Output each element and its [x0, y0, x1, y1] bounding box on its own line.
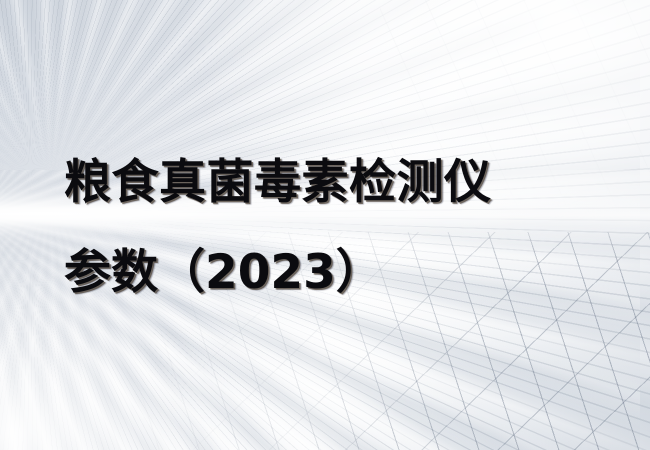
title-banner: 粮食真菌毒素检测仪 参数（2023）	[0, 0, 650, 450]
title-line-secondary: 参数（2023）	[64, 228, 624, 318]
title-line-primary: 粮食真菌毒素检测仪	[64, 138, 624, 228]
page-title: 粮食真菌毒素检测仪 参数（2023）	[64, 138, 624, 318]
